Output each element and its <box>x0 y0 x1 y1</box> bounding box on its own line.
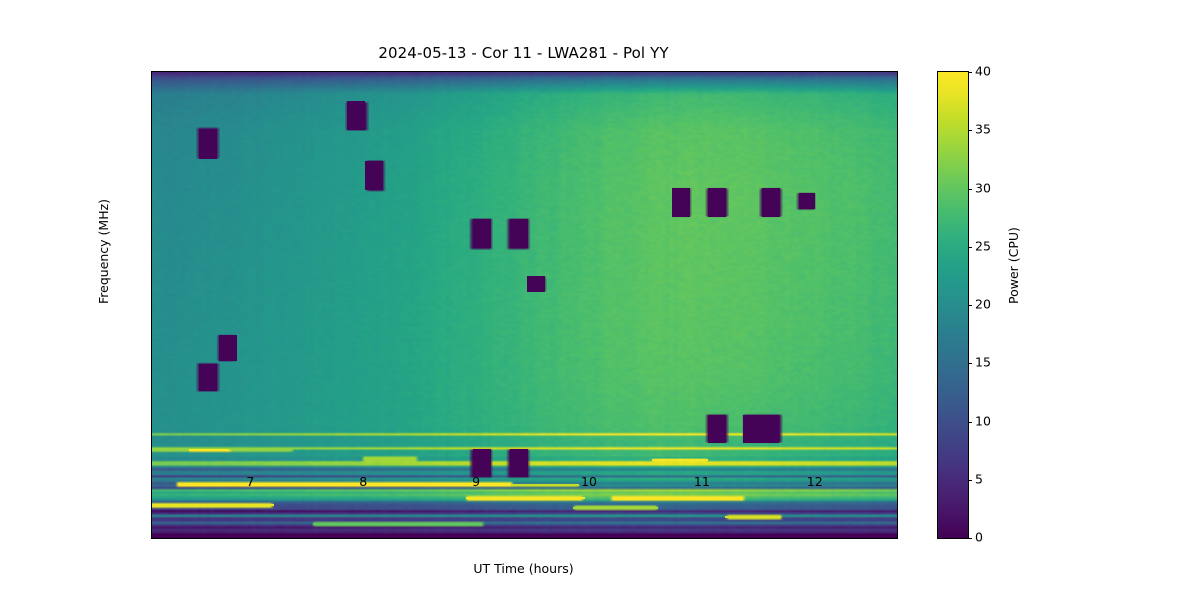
x-minor-tick <box>545 538 546 539</box>
x-minor-tick <box>229 538 230 539</box>
y-minor-tick <box>151 357 152 358</box>
colorbar-ticklabel-5: 5 <box>975 471 983 486</box>
x-tick-8 <box>364 538 365 539</box>
colorbar-tick-30 <box>968 189 972 190</box>
x-minor-tick <box>793 538 794 539</box>
y-minor-tick <box>151 332 152 333</box>
x-minor-tick <box>635 538 636 539</box>
x-ticklabel-10: 10 <box>581 474 597 489</box>
spectrogram-axes[interactable] <box>151 71 898 539</box>
x-minor-tick <box>771 538 772 539</box>
colorbar-tick-35 <box>968 130 972 131</box>
colorbar-ticklabel-20: 20 <box>975 297 991 312</box>
x-minor-tick <box>206 538 207 539</box>
y-tick-60 <box>151 244 152 245</box>
y-minor-tick <box>151 144 152 145</box>
y-minor-tick <box>151 131 152 132</box>
x-minor-tick <box>861 538 862 539</box>
colorbar-ticklabel-0: 0 <box>975 530 983 545</box>
x-minor-tick <box>613 538 614 539</box>
y-minor-tick <box>151 169 152 170</box>
x-minor-tick <box>387 538 388 539</box>
spectrogram-pixels <box>152 72 897 538</box>
y-minor-tick <box>151 94 152 95</box>
x-minor-tick <box>319 538 320 539</box>
x-ticklabel-9: 9 <box>472 474 480 489</box>
x-tick-12 <box>816 538 817 539</box>
y-tick-70 <box>151 181 152 182</box>
y-minor-tick <box>151 507 152 508</box>
x-ticklabel-11: 11 <box>694 474 710 489</box>
colorbar-ticklabel-40: 40 <box>975 64 991 79</box>
y-minor-tick <box>151 444 152 445</box>
y-minor-tick <box>151 419 152 420</box>
x-minor-tick <box>432 538 433 539</box>
y-minor-tick <box>151 294 152 295</box>
x-axis-label: UT Time (hours) <box>151 561 896 576</box>
x-minor-tick <box>161 538 162 539</box>
x-minor-tick <box>838 538 839 539</box>
x-minor-tick <box>184 538 185 539</box>
y-minor-tick <box>151 457 152 458</box>
colorbar-ticklabel-30: 30 <box>975 180 991 195</box>
spectrogram-image <box>152 72 897 538</box>
x-minor-tick <box>409 538 410 539</box>
x-minor-tick <box>455 538 456 539</box>
x-minor-tick <box>522 538 523 539</box>
x-minor-tick <box>500 538 501 539</box>
y-minor-tick <box>151 257 152 258</box>
y-minor-tick <box>151 469 152 470</box>
x-minor-tick <box>883 538 884 539</box>
y-minor-tick <box>151 344 152 345</box>
colorbar-tick-20 <box>968 305 972 306</box>
x-tick-11 <box>703 538 704 539</box>
colorbar-ticklabel-15: 15 <box>975 355 991 370</box>
y-minor-tick <box>151 106 152 107</box>
y-tick-20 <box>151 494 152 495</box>
y-minor-tick <box>151 382 152 383</box>
x-minor-tick <box>567 538 568 539</box>
y-tick-80 <box>151 119 152 120</box>
colorbar-tick-10 <box>968 422 972 423</box>
y-minor-tick <box>151 282 152 283</box>
colorbar-axes[interactable] <box>937 71 969 539</box>
y-minor-tick <box>151 269 152 270</box>
y-minor-tick <box>151 194 152 195</box>
colorbar-tick-0 <box>968 538 972 539</box>
y-tick-50 <box>151 307 152 308</box>
colorbar-gradient <box>938 72 968 538</box>
x-minor-tick <box>680 538 681 539</box>
y-tick-40 <box>151 369 152 370</box>
y-minor-tick <box>151 319 152 320</box>
x-tick-7 <box>251 538 252 539</box>
y-minor-tick <box>151 407 152 408</box>
figure-canvas: 2024-05-13 - Cor 11 - LWA281 - Pol YY Fr… <box>0 0 1200 600</box>
y-minor-tick <box>151 206 152 207</box>
y-axis-label: Frequency (MHz) <box>96 199 111 304</box>
x-minor-tick <box>296 538 297 539</box>
colorbar-ticklabel-25: 25 <box>975 238 991 253</box>
colorbar-tick-5 <box>968 480 972 481</box>
x-minor-tick <box>274 538 275 539</box>
y-minor-tick <box>151 394 152 395</box>
colorbar-ticklabel-35: 35 <box>975 122 991 137</box>
y-minor-tick <box>151 156 152 157</box>
colorbar-tick-25 <box>968 247 972 248</box>
y-minor-tick <box>151 519 152 520</box>
y-tick-30 <box>151 432 152 433</box>
x-minor-tick <box>748 538 749 539</box>
y-minor-tick <box>151 232 152 233</box>
colorbar-tick-40 <box>968 72 972 73</box>
y-minor-tick <box>151 219 152 220</box>
plot-title: 2024-05-13 - Cor 11 - LWA281 - Pol YY <box>151 44 896 62</box>
y-minor-tick <box>151 532 152 533</box>
x-minor-tick <box>658 538 659 539</box>
y-minor-tick <box>151 81 152 82</box>
x-tick-10 <box>590 538 591 539</box>
x-minor-tick <box>725 538 726 539</box>
colorbar-tick-15 <box>968 363 972 364</box>
colorbar-ticklabel-10: 10 <box>975 413 991 428</box>
x-ticklabel-8: 8 <box>359 474 367 489</box>
x-ticklabel-12: 12 <box>807 474 823 489</box>
x-tick-9 <box>477 538 478 539</box>
colorbar-label: Power (CPU) <box>1006 227 1021 304</box>
x-minor-tick <box>342 538 343 539</box>
y-minor-tick <box>151 482 152 483</box>
x-ticklabel-7: 7 <box>246 474 254 489</box>
